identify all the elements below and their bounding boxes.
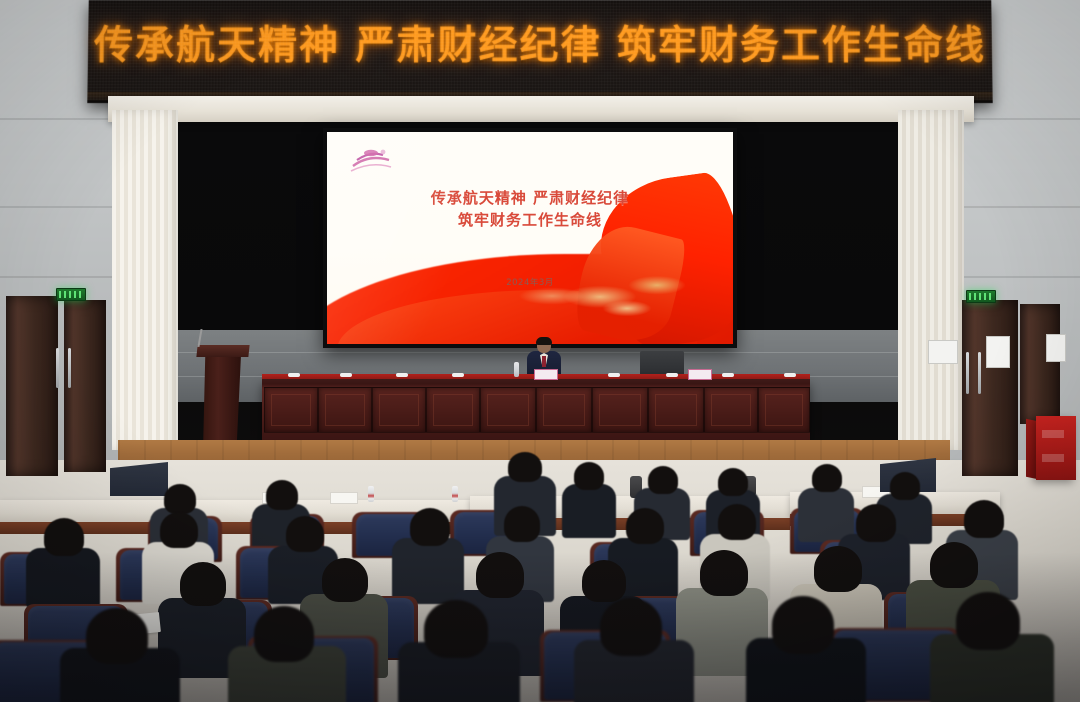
head-table: [262, 379, 810, 441]
podium-body: [203, 355, 241, 451]
table-panel: [318, 387, 372, 433]
table-panel: [372, 387, 426, 433]
slide-title-line-2: 筑牢财务工作生命线: [327, 210, 733, 232]
slide-date: 2024年3月: [327, 276, 733, 288]
person-hair: [254, 606, 314, 662]
person-hair: [718, 504, 756, 540]
wall-seam: [950, 206, 1080, 208]
name-plate: [330, 492, 358, 504]
led-banner-text: 传承航天精神 严肃财经纪律 筑牢财务工作生命线: [88, 14, 993, 70]
door-handle[interactable]: [68, 348, 71, 388]
person-hair: [504, 506, 540, 542]
wall-notice: [1046, 334, 1066, 362]
person-hair: [286, 516, 324, 552]
person-hair: [700, 550, 748, 596]
person-hair: [964, 500, 1004, 538]
kiosk-label: [1042, 430, 1064, 438]
table-panel: [592, 387, 648, 433]
projection-screen: 传承航天精神 严肃财经纪律 筑牢财务工作生命线 2024年3月: [327, 132, 733, 344]
microphone: [666, 373, 678, 377]
person-hair: [814, 546, 862, 592]
microphone: [784, 373, 796, 377]
person-hair: [812, 464, 842, 492]
door-handle[interactable]: [978, 352, 981, 394]
slide-title: 传承航天精神 严肃财经纪律 筑牢财务工作生命线: [327, 188, 733, 232]
exit-sign-left: [56, 288, 86, 301]
exit-sign-right: [966, 290, 996, 303]
red-information-kiosk: [1036, 416, 1076, 480]
person-hair: [718, 468, 748, 496]
proscenium-column-left: [112, 110, 178, 450]
wall-seam: [0, 118, 118, 120]
wall-seam: [0, 276, 118, 278]
table-panel: [536, 387, 592, 433]
person-hair: [574, 462, 604, 490]
microphone: [452, 373, 464, 377]
exit-door-left[interactable]: [6, 296, 58, 476]
name-plate: [688, 369, 712, 380]
person-hair: [772, 596, 834, 654]
person-hair: [582, 560, 626, 602]
microphone: [608, 373, 620, 377]
table-panel: [648, 387, 704, 433]
person-hair: [626, 508, 664, 544]
person-hair: [322, 558, 368, 602]
person-hair: [266, 480, 298, 510]
microphone: [722, 373, 734, 377]
table-panel: [426, 387, 480, 433]
person-body: [562, 484, 616, 538]
person-body: [26, 548, 100, 608]
microphone: [396, 373, 408, 377]
person-body: [392, 538, 464, 604]
water-bottle: [452, 486, 458, 502]
person-hair: [930, 542, 978, 588]
speaker-tie: [542, 356, 546, 367]
person-hair: [600, 598, 662, 656]
proscenium-column-right: [898, 110, 964, 450]
door-handle[interactable]: [966, 352, 969, 394]
person-hair: [508, 452, 542, 482]
wall-notice: [986, 336, 1010, 368]
table-panel: [264, 387, 318, 433]
person-hair: [648, 466, 678, 494]
table-panel: [704, 387, 758, 433]
exit-sign-glyph: [59, 291, 83, 298]
table-panel: [758, 387, 810, 433]
equipment-box: [640, 351, 684, 376]
exit-door-right-2[interactable]: [1020, 304, 1060, 424]
door-handle[interactable]: [56, 348, 59, 388]
proscenium-header: [108, 96, 974, 122]
podium-top: [196, 345, 249, 357]
person-hair: [160, 512, 198, 548]
table-panel: [480, 387, 536, 433]
person-hair: [890, 472, 920, 500]
person-hair: [476, 552, 524, 598]
conference-hall-photo: 传承航天精神 严肃财经纪律 筑牢财务工作生命线 传承: [0, 0, 1080, 702]
speaker-hair: [536, 337, 552, 345]
kiosk-label: [1042, 454, 1064, 462]
water-bottle: [368, 486, 374, 502]
water-bottle: [514, 362, 519, 377]
person-hair: [424, 600, 488, 658]
person-hair: [44, 518, 84, 556]
person-hair: [86, 608, 148, 664]
exit-sign-glyph: [969, 293, 993, 300]
person-body: [798, 488, 854, 542]
slide-title-line-1: 传承航天精神 严肃财经纪律: [327, 188, 733, 210]
person-hair: [856, 504, 896, 542]
microphone: [340, 373, 352, 377]
projection-screen-frame: 传承航天精神 严肃财经纪律 筑牢财务工作生命线 2024年3月: [323, 128, 737, 348]
wall-seam: [950, 276, 1080, 278]
wall-notice: [928, 340, 958, 364]
led-banner: 传承航天精神 严肃财经纪律 筑牢财务工作生命线: [87, 0, 992, 103]
speaker-podium: [197, 345, 249, 455]
person-hair: [164, 484, 196, 514]
person-hair: [956, 592, 1020, 650]
organization-logo-icon: [345, 144, 397, 180]
microphone: [288, 373, 300, 377]
wall-seam: [0, 206, 118, 208]
person-hair: [180, 562, 226, 606]
person-hair: [410, 508, 450, 546]
exit-door-right[interactable]: [962, 300, 1018, 476]
name-plate: [534, 369, 558, 380]
